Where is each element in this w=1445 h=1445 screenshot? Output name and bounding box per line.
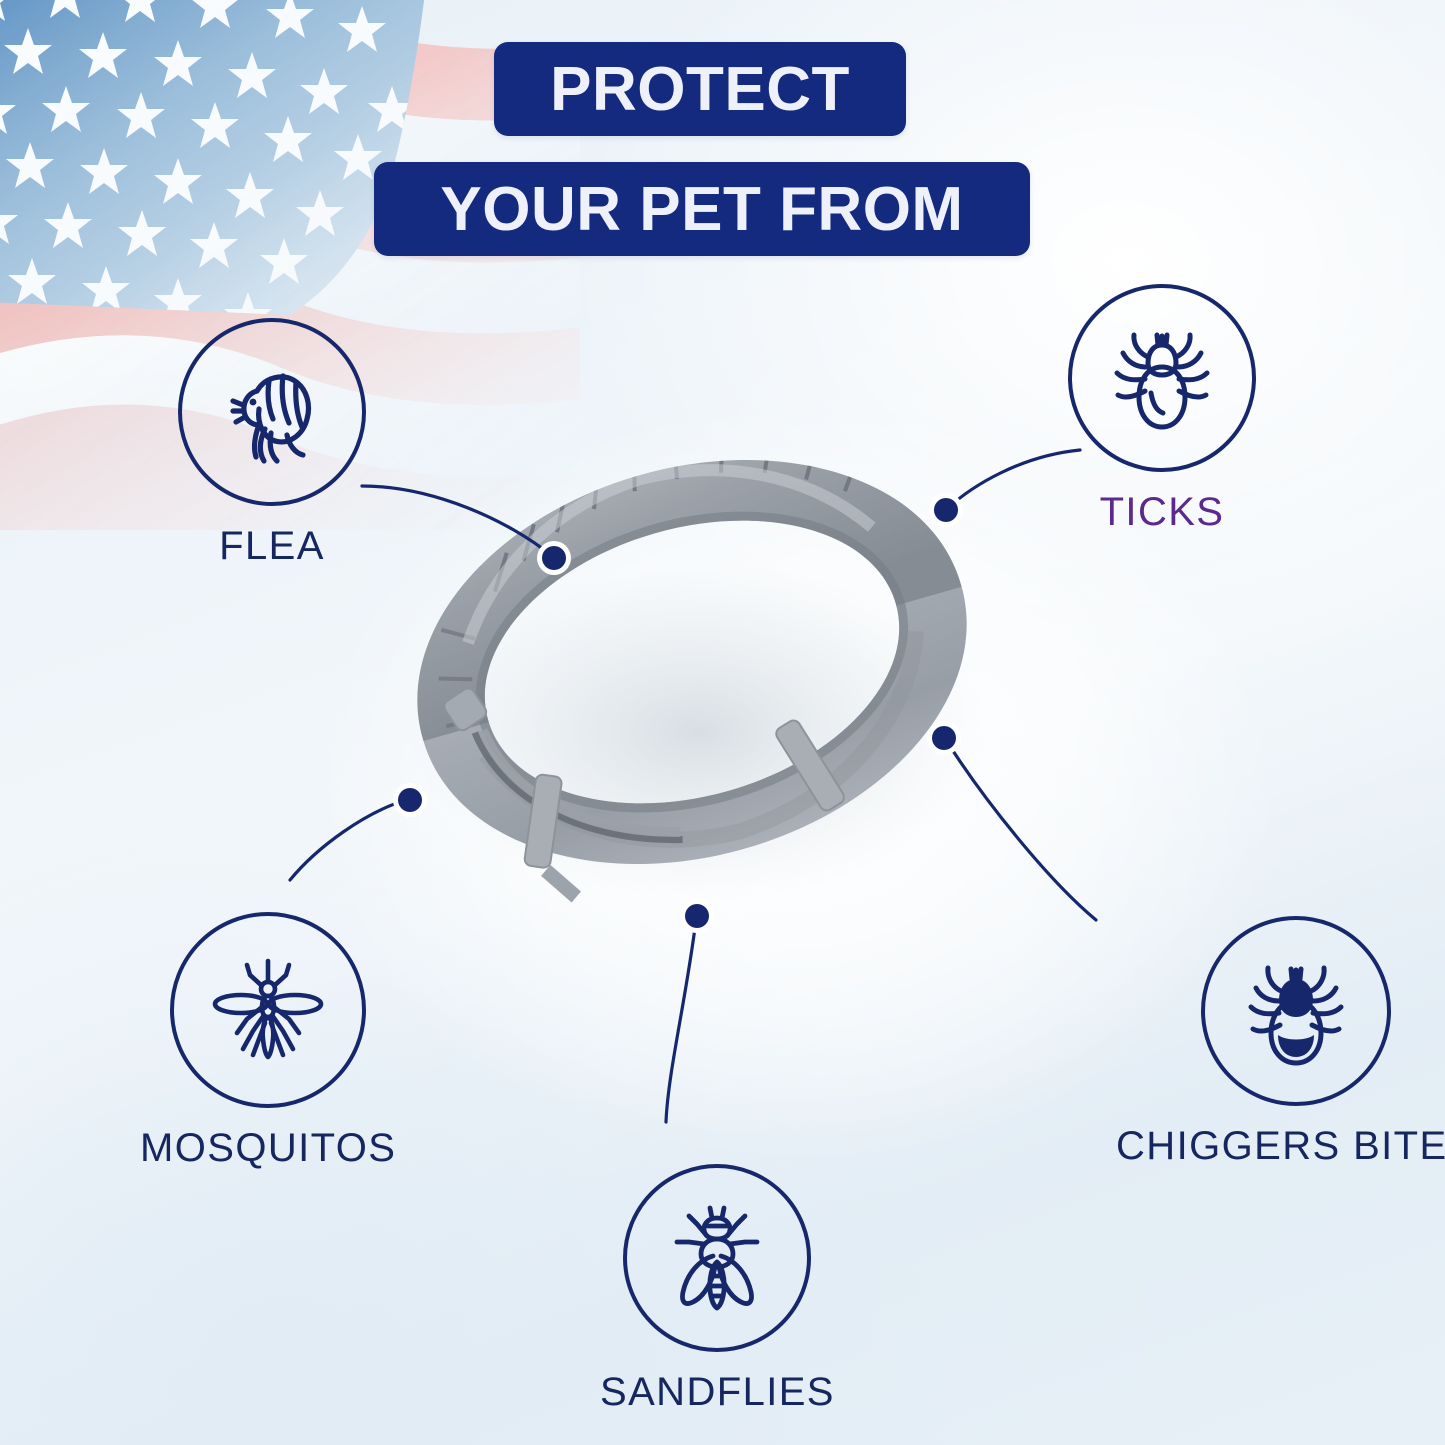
- feature-chiggers[interactable]: CHIGGERS BITES: [1116, 916, 1445, 1169]
- feature-chiggers-circle: [1201, 916, 1391, 1106]
- feature-sandflies[interactable]: SANDFLIES: [600, 1164, 835, 1415]
- feature-mosquitos[interactable]: MOSQUITOS: [140, 912, 396, 1171]
- headline-banner-line1: PROTECT: [494, 42, 906, 136]
- feature-flea-circle: [178, 318, 366, 506]
- headline-line2-text: YOUR PET FROM: [440, 174, 963, 245]
- feature-ticks-circle: [1068, 284, 1256, 472]
- chigger-icon: [1234, 949, 1358, 1073]
- feature-sandflies-circle: [623, 1164, 811, 1352]
- feature-flea-label: FLEA: [219, 524, 325, 569]
- feature-ticks[interactable]: TICKS: [1068, 284, 1256, 535]
- feature-flea[interactable]: FLEA: [178, 318, 366, 569]
- infographic-canvas: PROTECT YOUR PET FROM: [0, 0, 1445, 1445]
- mosquito-icon: [203, 945, 333, 1075]
- feature-chiggers-label: CHIGGERS BITES: [1116, 1124, 1445, 1169]
- feature-ticks-label: TICKS: [1100, 490, 1225, 535]
- feature-mosquitos-label: MOSQUITOS: [140, 1126, 396, 1171]
- flea-icon: [209, 349, 335, 475]
- headline-line1-text: PROTECT: [550, 54, 850, 125]
- pet-collar-product-image: [372, 432, 1012, 952]
- tick-icon: [1101, 317, 1223, 439]
- headline-banner-line2: YOUR PET FROM: [374, 162, 1030, 256]
- sandfly-icon: [655, 1196, 779, 1320]
- feature-mosquitos-circle: [170, 912, 366, 1108]
- feature-sandflies-label: SANDFLIES: [600, 1370, 835, 1415]
